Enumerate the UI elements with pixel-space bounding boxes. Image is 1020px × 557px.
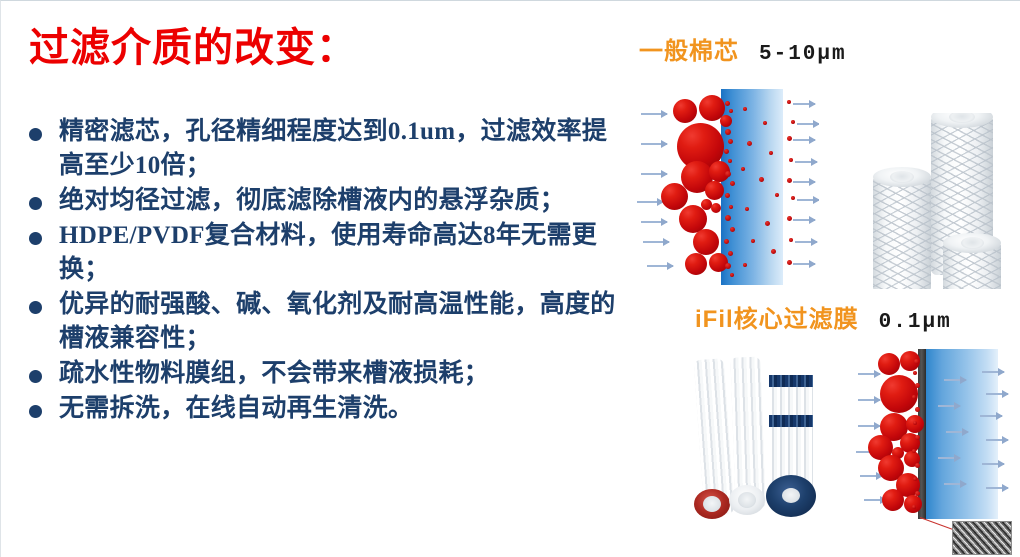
retained-particle	[913, 371, 917, 375]
fine-particle	[728, 139, 733, 144]
flow-arrow-icon	[641, 173, 667, 175]
outlet-arrow-icon	[986, 393, 1008, 395]
outlet-arrow-icon	[986, 487, 1008, 489]
leaked-particle	[759, 177, 764, 182]
fine-particle	[724, 239, 729, 244]
fine-particle	[725, 171, 731, 177]
leaked-particle	[747, 141, 752, 146]
contaminant-particle	[673, 99, 697, 123]
clean-flow-arrow-icon	[938, 405, 960, 407]
flow-arrow-icon	[858, 399, 880, 401]
escaped-particle	[787, 136, 792, 141]
retained-particle	[915, 463, 920, 468]
list-item-label: 疏水性物料膜组，不会带来槽液损耗；	[59, 357, 629, 391]
leaked-particle	[771, 249, 776, 254]
panel-title-cotton: 一般棉芯	[639, 38, 739, 65]
contaminant-particle	[693, 229, 719, 255]
flow-arrow-icon	[641, 113, 667, 115]
escaped-particle	[791, 120, 795, 124]
cotton-cartridge	[873, 175, 931, 289]
contaminant-particle	[878, 353, 900, 375]
contaminant-particle	[720, 115, 732, 127]
clean-flow-arrow-icon	[944, 483, 966, 485]
flow-arrow-icon	[860, 475, 882, 477]
leaked-particle	[763, 121, 767, 125]
leaked-particle	[765, 221, 770, 226]
clean-flow-arrow-icon	[938, 457, 960, 459]
outlet-arrow-icon	[793, 263, 815, 265]
outlet-arrow-icon	[797, 199, 819, 201]
bullet-dot-icon	[29, 197, 42, 210]
list-item-label: HDPE/PVDF复合材料，使用寿命高达8年无需更换；	[59, 219, 629, 287]
retained-particle	[912, 395, 916, 399]
contaminant-particle	[709, 253, 728, 272]
escaped-particle	[787, 216, 792, 221]
fine-particle	[728, 159, 732, 163]
page-title: 过滤介质的改变：	[29, 25, 357, 71]
retained-particle	[915, 491, 920, 496]
leaked-particle	[745, 207, 749, 211]
flow-arrow-icon	[858, 425, 880, 427]
flow-arrow-icon	[647, 265, 673, 267]
leaked-particle	[741, 167, 745, 171]
bullet-dot-icon	[29, 301, 42, 314]
cartridge-core-hole	[703, 496, 721, 512]
list-item: 无需拆洗，在线自动再生清洗。	[29, 392, 629, 426]
cartridge-core-hole	[738, 492, 756, 508]
bullet-dot-icon	[29, 232, 42, 245]
outlet-arrow-icon	[795, 241, 817, 243]
panel-header-cotton: 一般棉芯 5-10μm	[639, 31, 847, 66]
retained-particle	[915, 383, 920, 388]
list-item: HDPE/PVDF复合材料，使用寿命高达8年无需更换；	[29, 219, 629, 287]
outlet-arrow-icon	[980, 415, 1002, 417]
panel-header-ifil: iFil核心过滤膜 0.1μm	[695, 299, 952, 334]
contaminant-particle	[882, 489, 904, 511]
cotton-cartridge-photo	[839, 113, 1015, 289]
cartridge-core-hole	[890, 171, 914, 183]
list-item: 绝对均径过滤，彻底滤除槽液内的悬浮杂质；	[29, 184, 629, 218]
outlet-arrow-icon	[793, 139, 815, 141]
fine-particle	[730, 181, 735, 186]
list-item: 精密滤芯，孔径精细程度达到0.1um，过滤效率提高至少10倍；	[29, 115, 629, 183]
flow-arrow-icon	[643, 241, 669, 243]
contaminant-particle	[711, 203, 721, 213]
fine-particle	[729, 109, 733, 113]
outlet-arrow-icon	[797, 123, 819, 125]
retained-particle	[915, 435, 920, 440]
escaped-particle	[787, 100, 791, 104]
contaminant-particle	[685, 253, 707, 275]
escaped-particle	[791, 196, 795, 200]
fine-particle	[730, 227, 735, 232]
panel-spec-cotton: 5-10μm	[759, 43, 847, 66]
sem-micrograph-inset	[952, 521, 1012, 555]
leaked-particle	[751, 239, 755, 243]
clean-flow-arrow-icon	[946, 431, 968, 433]
contaminant-particle	[880, 375, 918, 413]
retained-particle	[913, 421, 917, 425]
outlet-arrow-icon	[795, 161, 817, 163]
outlet-arrow-icon	[793, 103, 815, 105]
ifil-filtration-diagram	[856, 343, 1018, 555]
bullet-dot-icon	[29, 370, 42, 383]
contaminant-particle	[705, 181, 724, 200]
flow-arrow-icon	[858, 373, 880, 375]
fine-particle	[725, 101, 730, 106]
list-item: 疏水性物料膜组，不会带来槽液损耗；	[29, 357, 629, 391]
list-item-label: 绝对均径过滤，彻底滤除槽液内的悬浮杂质；	[59, 184, 629, 218]
feature-bullet-list: 精密滤芯，孔径精细程度达到0.1um，过滤效率提高至少10倍； 绝对均径过滤，彻…	[29, 115, 629, 427]
retained-particle	[915, 407, 920, 412]
fine-particle	[725, 263, 731, 269]
cotton-filtration-diagram	[635, 81, 819, 291]
flow-arrow-icon	[641, 221, 667, 223]
cartridge-pleat-band	[769, 415, 813, 427]
fine-particle	[728, 251, 733, 256]
panel-spec-ifil: 0.1μm	[879, 311, 952, 334]
fine-particle	[725, 215, 731, 221]
retained-particle	[913, 477, 917, 481]
bullet-dot-icon	[29, 405, 42, 418]
cartridge-core-hole	[782, 488, 800, 503]
fine-particle	[730, 273, 734, 277]
list-item-label: 无需拆洗，在线自动再生清洗。	[59, 392, 629, 426]
escaped-particle	[787, 260, 792, 265]
outlet-arrow-icon	[986, 439, 1008, 441]
contaminant-particle	[904, 495, 922, 513]
slide-canvas: 过滤介质的改变： 精密滤芯，孔径精细程度达到0.1um，过滤效率提高至少10倍；…	[0, 0, 1020, 557]
contaminant-particle	[661, 183, 688, 210]
list-item-label: 精密滤芯，孔径精细程度达到0.1um，过滤效率提高至少10倍；	[59, 115, 629, 183]
escaped-particle	[789, 238, 793, 242]
retained-particle	[912, 449, 916, 453]
list-item: 优异的耐强酸、碱、氧化剂及耐高温性能，高度的槽液兼容性；	[29, 288, 629, 356]
outlet-arrow-icon	[982, 371, 1004, 373]
escaped-particle	[789, 158, 793, 162]
fine-particle	[724, 149, 729, 154]
ifil-cartridge-photo	[677, 343, 847, 548]
retained-particle	[914, 359, 919, 364]
fine-particle	[725, 129, 731, 135]
leaked-particle	[769, 151, 773, 155]
clean-flow-arrow-icon	[944, 379, 966, 381]
leaked-particle	[743, 263, 747, 267]
cartridge-pleat-band	[769, 375, 813, 387]
fine-particle	[725, 193, 730, 198]
outlet-arrow-icon	[793, 219, 815, 221]
flow-arrow-icon	[641, 143, 667, 145]
cartridge-core-hole	[961, 237, 984, 249]
bullet-dot-icon	[29, 128, 42, 141]
leaked-particle	[743, 107, 747, 111]
fine-particle	[729, 205, 733, 209]
retained-particle	[912, 505, 916, 509]
outlet-arrow-icon	[793, 181, 815, 183]
flow-arrow-icon	[637, 201, 663, 203]
escaped-particle	[787, 178, 792, 183]
list-item-label: 优异的耐强酸、碱、氧化剂及耐高温性能，高度的槽液兼容性；	[59, 288, 629, 356]
panel-title-ifil: iFil核心过滤膜	[695, 306, 859, 333]
leaked-particle	[775, 193, 779, 197]
outlet-arrow-icon	[982, 463, 1004, 465]
